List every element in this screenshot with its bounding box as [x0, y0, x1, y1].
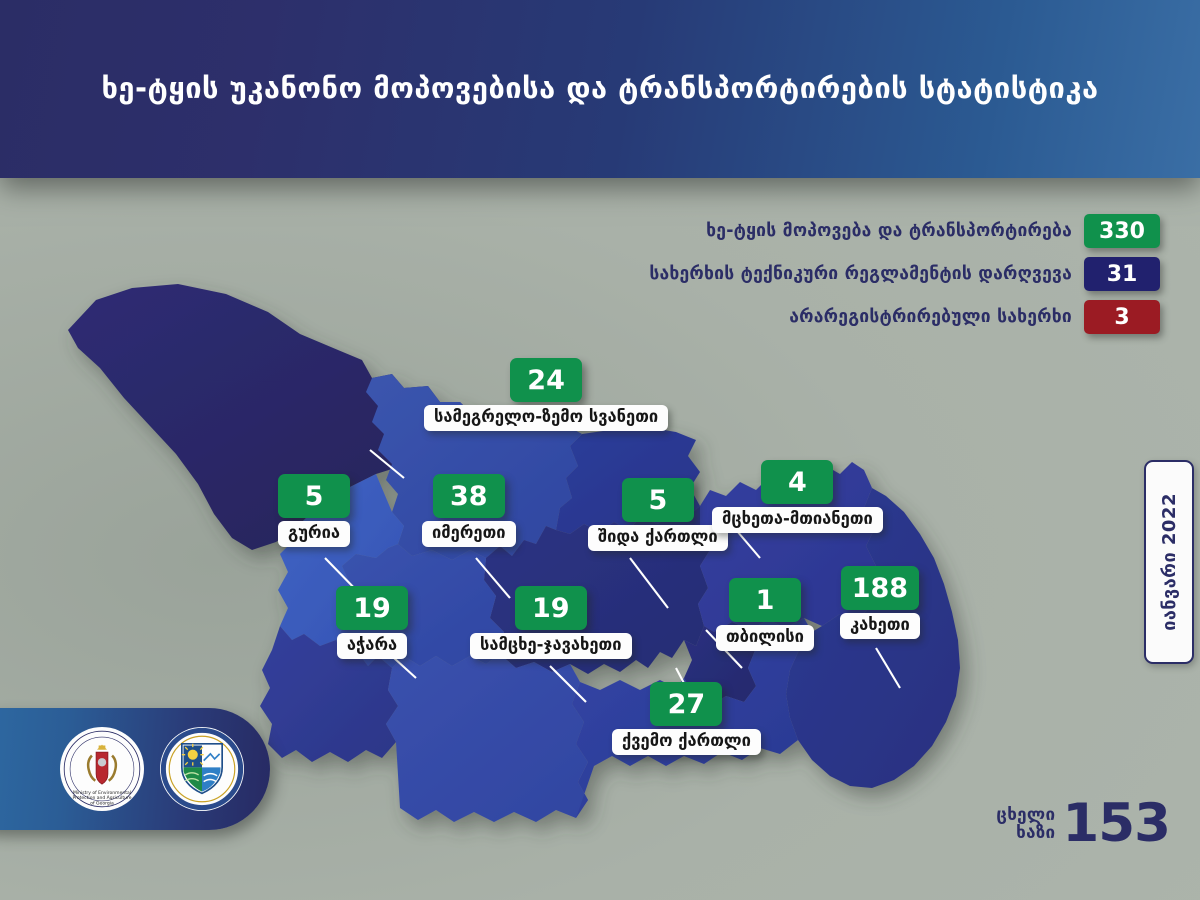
svg-text:Ministry of Environmental: Ministry of Environmental [73, 790, 131, 796]
legend-label: სახერხის ტექნიკური რეგლამენტის დარღვევა [649, 264, 1072, 284]
logo-pill: Ministry of Environmental Protection and… [0, 708, 270, 830]
marker-label: სამცხე-ჯავახეთი [470, 633, 632, 659]
hotline-words: ცხელი ხაზი [996, 807, 1055, 842]
marker-value: 5 [622, 478, 694, 522]
marker-value: 19 [336, 586, 408, 630]
map-marker-guria[interactable]: 5 გურია [278, 474, 350, 547]
legend-row-harvest-transport[interactable]: ხე-ტყის მოპოვება და ტრანსპორტირება 330 [706, 214, 1160, 248]
hotline: ცხელი ხაზი 153 [996, 801, 1170, 848]
svg-text:Protection and Agriculture: Protection and Agriculture [72, 795, 131, 801]
map-marker-samtskhe-javakheti[interactable]: 19 სამცხე-ჯავახეთი [470, 586, 632, 659]
map-marker-kakheti[interactable]: 188 კახეთი [840, 566, 920, 639]
marker-label: შიდა ქართლი [588, 525, 728, 551]
map-marker-mtskheta-mtianeti[interactable]: 4 მცხეთა-მთიანეთი [712, 460, 883, 533]
legend-label: ხე-ტყის მოპოვება და ტრანსპორტირება [706, 221, 1072, 241]
hotline-line-2: ხაზი [1016, 825, 1055, 842]
legend-label: არარეგისტრირებული სახერხი [789, 307, 1072, 327]
period-label: იანვარი 2022 [1159, 493, 1180, 631]
legend-value-badge: 31 [1084, 257, 1160, 291]
marker-label: კახეთი [840, 613, 920, 639]
marker-value: 4 [761, 460, 833, 504]
map-marker-imereti[interactable]: 38 იმერეთი [422, 474, 516, 547]
marker-value: 1 [729, 578, 801, 622]
hotline-number: 153 [1062, 801, 1170, 848]
map-marker-tbilisi[interactable]: 1 თბილისი [716, 578, 814, 651]
svg-text:of Georgia: of Georgia [90, 800, 114, 806]
marker-label: სამეგრელო-ზემო სვანეთი [424, 405, 668, 431]
environmental-supervision-emblem-icon [160, 727, 244, 811]
page-title: ხე-ტყის უკანონო მოპოვებისა და ტრანსპორტი… [71, 73, 1128, 105]
marker-label: თბილისი [716, 625, 814, 651]
marker-label: ქვემო ქართლი [612, 729, 761, 755]
marker-label: გურია [278, 521, 350, 547]
marker-label: იმერეთი [422, 521, 516, 547]
legend-value-badge: 3 [1084, 300, 1160, 334]
marker-value: 38 [433, 474, 505, 518]
marker-value: 19 [515, 586, 587, 630]
legend-value-badge: 330 [1084, 214, 1160, 248]
map-marker-adjara[interactable]: 19 აჭარა [336, 586, 408, 659]
ministry-emblem-icon: Ministry of Environmental Protection and… [60, 727, 144, 811]
marker-value: 24 [510, 358, 582, 402]
map-marker-shida-kartli[interactable]: 5 შიდა ქართლი [588, 478, 728, 551]
header-bar: ხე-ტყის უკანონო მოპოვებისა და ტრანსპორტი… [0, 0, 1200, 178]
marker-label: აჭარა [337, 633, 407, 659]
marker-value: 27 [650, 682, 722, 726]
marker-value: 5 [278, 474, 350, 518]
period-tab: იანვარი 2022 [1144, 460, 1194, 664]
infographic-root: ხე-ტყის უკანონო მოპოვებისა და ტრანსპორტი… [0, 0, 1200, 900]
map-marker-samegrelo-zemo-svaneti[interactable]: 24 სამეგრელო-ზემო სვანეთი [424, 358, 668, 431]
legend: ხე-ტყის მოპოვება და ტრანსპორტირება 330 ს… [649, 214, 1160, 334]
marker-label: მცხეთა-მთიანეთი [712, 507, 883, 533]
legend-row-unregistered-sawmill[interactable]: არარეგისტრირებული სახერხი 3 [789, 300, 1160, 334]
map-marker-kvemo-kartli[interactable]: 27 ქვემო ქართლი [612, 682, 761, 755]
legend-row-sawmill-regulation[interactable]: სახერხის ტექნიკური რეგლამენტის დარღვევა … [649, 257, 1160, 291]
marker-value: 188 [841, 566, 919, 610]
region-samtskhe-javakheti [386, 654, 588, 822]
